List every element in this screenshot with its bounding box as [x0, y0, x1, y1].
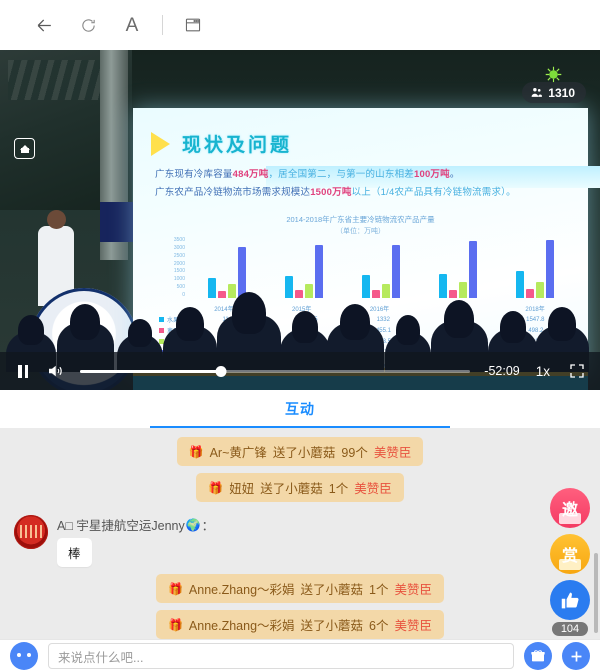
slide-line2-highlight: 1500万吨	[310, 187, 351, 198]
chart-y-tick: 2000	[174, 262, 185, 267]
audience-head	[176, 307, 204, 341]
invite-button[interactable]: 邀	[550, 488, 590, 528]
slide-line1-c: 。	[450, 169, 460, 180]
message-input-bar: 来说点什么吧...	[0, 639, 600, 672]
triangle-bullet-icon	[151, 132, 170, 156]
message-sender: A□ 宇星捷航空运Jenny🌍：	[57, 515, 214, 534]
gift-message: 🎁Anne.Zhang～彩娟送了小蘑菇6个美赞臣	[156, 610, 444, 639]
reward-button[interactable]: 赏	[550, 534, 590, 574]
slide-line2-b: 以上（1/4农产品具有冷链物流需求）。	[352, 187, 516, 198]
text-size-button[interactable]: A	[110, 5, 154, 45]
chat-feed[interactable]: 🎁Ar~黄广锋送了小蘑菇99个美赞臣🎁妞妞送了小蘑菇1个美赞臣A□ 宇星捷航空运…	[0, 428, 600, 639]
chart-y-tick: 1500	[174, 269, 185, 274]
gift-count: 1个	[329, 478, 348, 497]
gift-action: 送了小蘑菇	[260, 478, 323, 497]
gift-sender: Ar~黄广锋	[210, 442, 267, 461]
gift-icon[interactable]	[524, 642, 552, 670]
gift-count: 6个	[369, 615, 388, 634]
progress-fill	[80, 370, 221, 373]
gift-brand: 美赞臣	[395, 615, 433, 634]
gift-action: 送了小蘑菇	[273, 442, 336, 461]
people-icon	[530, 86, 543, 99]
chart-y-tick: 2500	[174, 254, 185, 259]
slide-line1-highlight-2: 100万吨	[414, 169, 450, 180]
time-remaining: -52:09	[484, 364, 519, 378]
gift-message: 🎁Ar~黄广锋送了小蘑菇99个美赞臣	[177, 437, 424, 466]
sender-colon: ：	[202, 515, 215, 534]
message-content: A□ 宇星捷航空运Jenny🌍：棒	[57, 515, 214, 567]
gift-brand: 美赞臣	[374, 442, 412, 461]
thumbs-up-icon	[560, 590, 581, 611]
message-input[interactable]: 来说点什么吧...	[48, 643, 514, 669]
chat-message-list: 🎁Ar~黄广锋送了小蘑菇99个美赞臣🎁妞妞送了小蘑菇1个美赞臣A□ 宇星捷航空运…	[0, 437, 600, 639]
chart-y-tick: 3500	[174, 238, 185, 243]
decoration-icon	[545, 66, 562, 83]
slide-line1-highlight-1: 484万吨	[233, 169, 269, 180]
slide-line-1: 广东现有冷库容量484万吨，居全国第二，与第一的山东相差100万吨。	[155, 166, 460, 180]
reward-label: 赏	[562, 542, 578, 566]
gift-sender: 妞妞	[229, 478, 254, 497]
text-size-label: A	[126, 16, 139, 35]
gift-sender: Anne.Zhang～彩娟	[189, 579, 295, 598]
chart-title: 2014-2018年广东省主要冷链物流农产品产量	[133, 214, 588, 225]
audience-head	[396, 315, 420, 345]
video-player[interactable]: 现状及问题 广东现有冷库容量484万吨，居全国第二，与第一的山东相差100万吨。…	[0, 50, 600, 390]
gift-action: 送了小蘑菇	[301, 615, 364, 634]
gift-icon: 🎁	[208, 481, 223, 495]
slide-line1-b: ，居全国第二，与第一的山东相差	[268, 169, 414, 180]
audience-head	[70, 304, 100, 340]
slide-line1-a: 广东现有冷库容量	[155, 169, 233, 180]
chart-y-tick: 3000	[174, 246, 185, 251]
audience-head	[128, 319, 152, 347]
tab-bar: 互动	[0, 390, 600, 428]
gift-icon: 🎁	[189, 445, 204, 459]
progress-bar[interactable]	[80, 361, 470, 381]
message-bubble: 棒	[57, 538, 92, 567]
gift-count: 1个	[369, 579, 388, 598]
audience-head	[18, 315, 44, 345]
live-stream-page: A 现状及问题 广东现有冷库容量484万吨，居全国第二，与第一的山东相差100万…	[0, 0, 600, 672]
slide-line-2: 广东农产品冷链物流市场需求规模达1500万吨以上（1/4农产品具有冷链物流需求）…	[155, 184, 516, 198]
tab-interaction[interactable]: 互动	[285, 399, 315, 419]
back-arrow-icon[interactable]	[22, 5, 66, 45]
playback-speed-button[interactable]: 1x	[530, 364, 556, 379]
gift-message: 🎁妞妞送了小蘑菇1个美赞臣	[196, 473, 403, 502]
chat-message: A□ 宇星捷航空运Jenny🌍：棒	[0, 509, 600, 567]
audience-head	[232, 292, 266, 334]
audience-head	[292, 311, 318, 343]
toolbar-divider	[162, 15, 163, 35]
invite-label: 邀	[562, 496, 578, 520]
gift-brand: 美赞臣	[395, 579, 433, 598]
pause-icon[interactable]	[12, 360, 34, 382]
fullscreen-icon[interactable]	[566, 360, 588, 382]
globe-icon: 🌍	[186, 518, 201, 532]
refresh-icon[interactable]	[66, 5, 110, 45]
chat-scrollbar[interactable]	[594, 553, 598, 633]
like-button[interactable]	[550, 580, 590, 620]
slide-line2-a: 广东农产品冷链物流市场需求规模达	[155, 187, 310, 198]
emoji-icon[interactable]	[10, 642, 38, 670]
progress-handle[interactable]	[215, 366, 226, 377]
gift-action: 送了小蘑菇	[301, 579, 364, 598]
browser-toolbar: A	[0, 0, 600, 50]
gift-brand: 美赞臣	[354, 478, 392, 497]
slide-header: 现状及问题	[151, 130, 292, 157]
gift-message: 🎁Anne.Zhang～彩娟送了小蘑菇1个美赞臣	[156, 574, 444, 603]
player-controls: -52:09 1x	[0, 352, 600, 390]
plus-icon[interactable]	[562, 642, 590, 670]
home-icon[interactable]	[14, 138, 35, 159]
avatar[interactable]	[14, 515, 48, 549]
viewer-count-badge: 1310	[522, 82, 586, 103]
audience-head	[548, 307, 576, 341]
window-icon[interactable]	[171, 5, 215, 45]
floating-action-stack: 邀 赏 104	[550, 488, 590, 636]
sender-name: A□ 宇星捷航空运Jenny	[57, 515, 185, 534]
gift-count: 99个	[341, 442, 367, 461]
volume-icon[interactable]	[44, 360, 66, 382]
chart-subtitle: （单位：万吨）	[133, 226, 588, 236]
gift-icon: 🎁	[168, 582, 183, 596]
slide-title: 现状及问题	[182, 130, 292, 157]
gift-sender: Anne.Zhang～彩娟	[189, 615, 295, 634]
audience-head	[500, 311, 526, 343]
viewer-count-value: 1310	[548, 86, 575, 100]
gift-icon: 🎁	[168, 618, 183, 632]
like-count: 104	[552, 622, 588, 636]
audience-head	[444, 300, 474, 338]
audience-head	[340, 304, 370, 340]
